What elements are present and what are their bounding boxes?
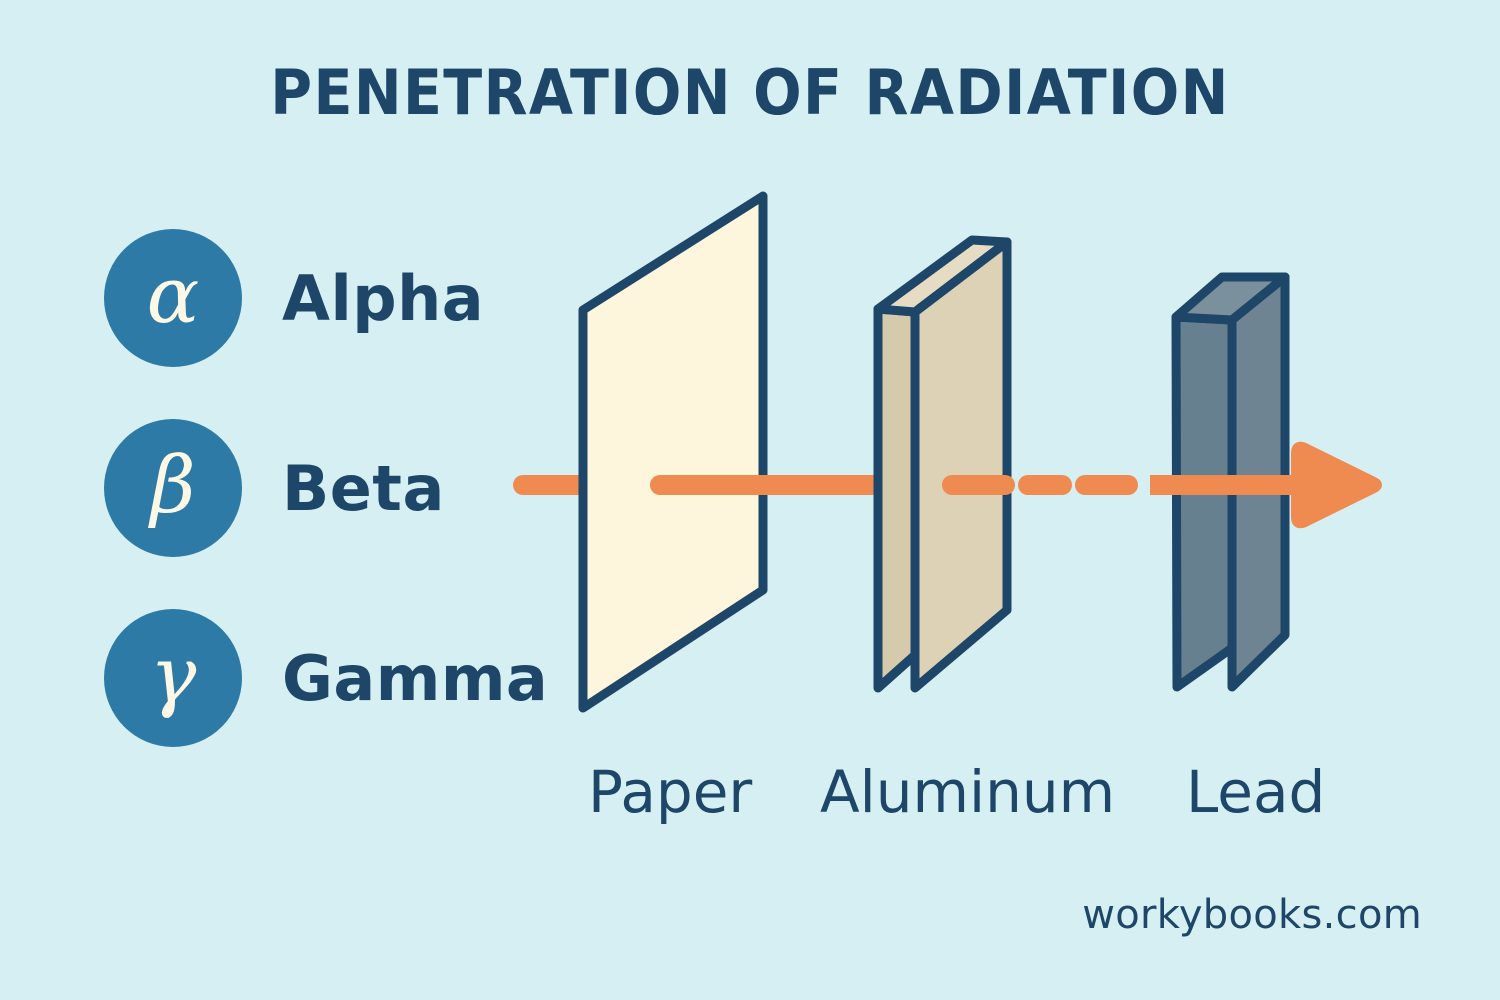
barrier-diagram: [0, 0, 1500, 1000]
barrier-paper: [583, 196, 763, 708]
barrier-label-aluminum: Aluminum: [820, 758, 1115, 826]
lead-side-face: [1176, 317, 1232, 687]
aluminum-front-face: [915, 242, 1007, 688]
site-watermark: workybooks.com: [1082, 892, 1422, 938]
barrier-aluminum: [878, 240, 1007, 688]
barrier-label-lead: Lead: [1186, 758, 1325, 826]
paper-sheet: [583, 196, 763, 708]
diagram-canvas: PENETRATION OF RADIATION α Alpha β Beta …: [0, 0, 1500, 1000]
barrier-label-paper: Paper: [588, 758, 752, 826]
beam-arrowhead-icon: [1296, 447, 1377, 523]
aluminum-side-face: [878, 309, 915, 688]
